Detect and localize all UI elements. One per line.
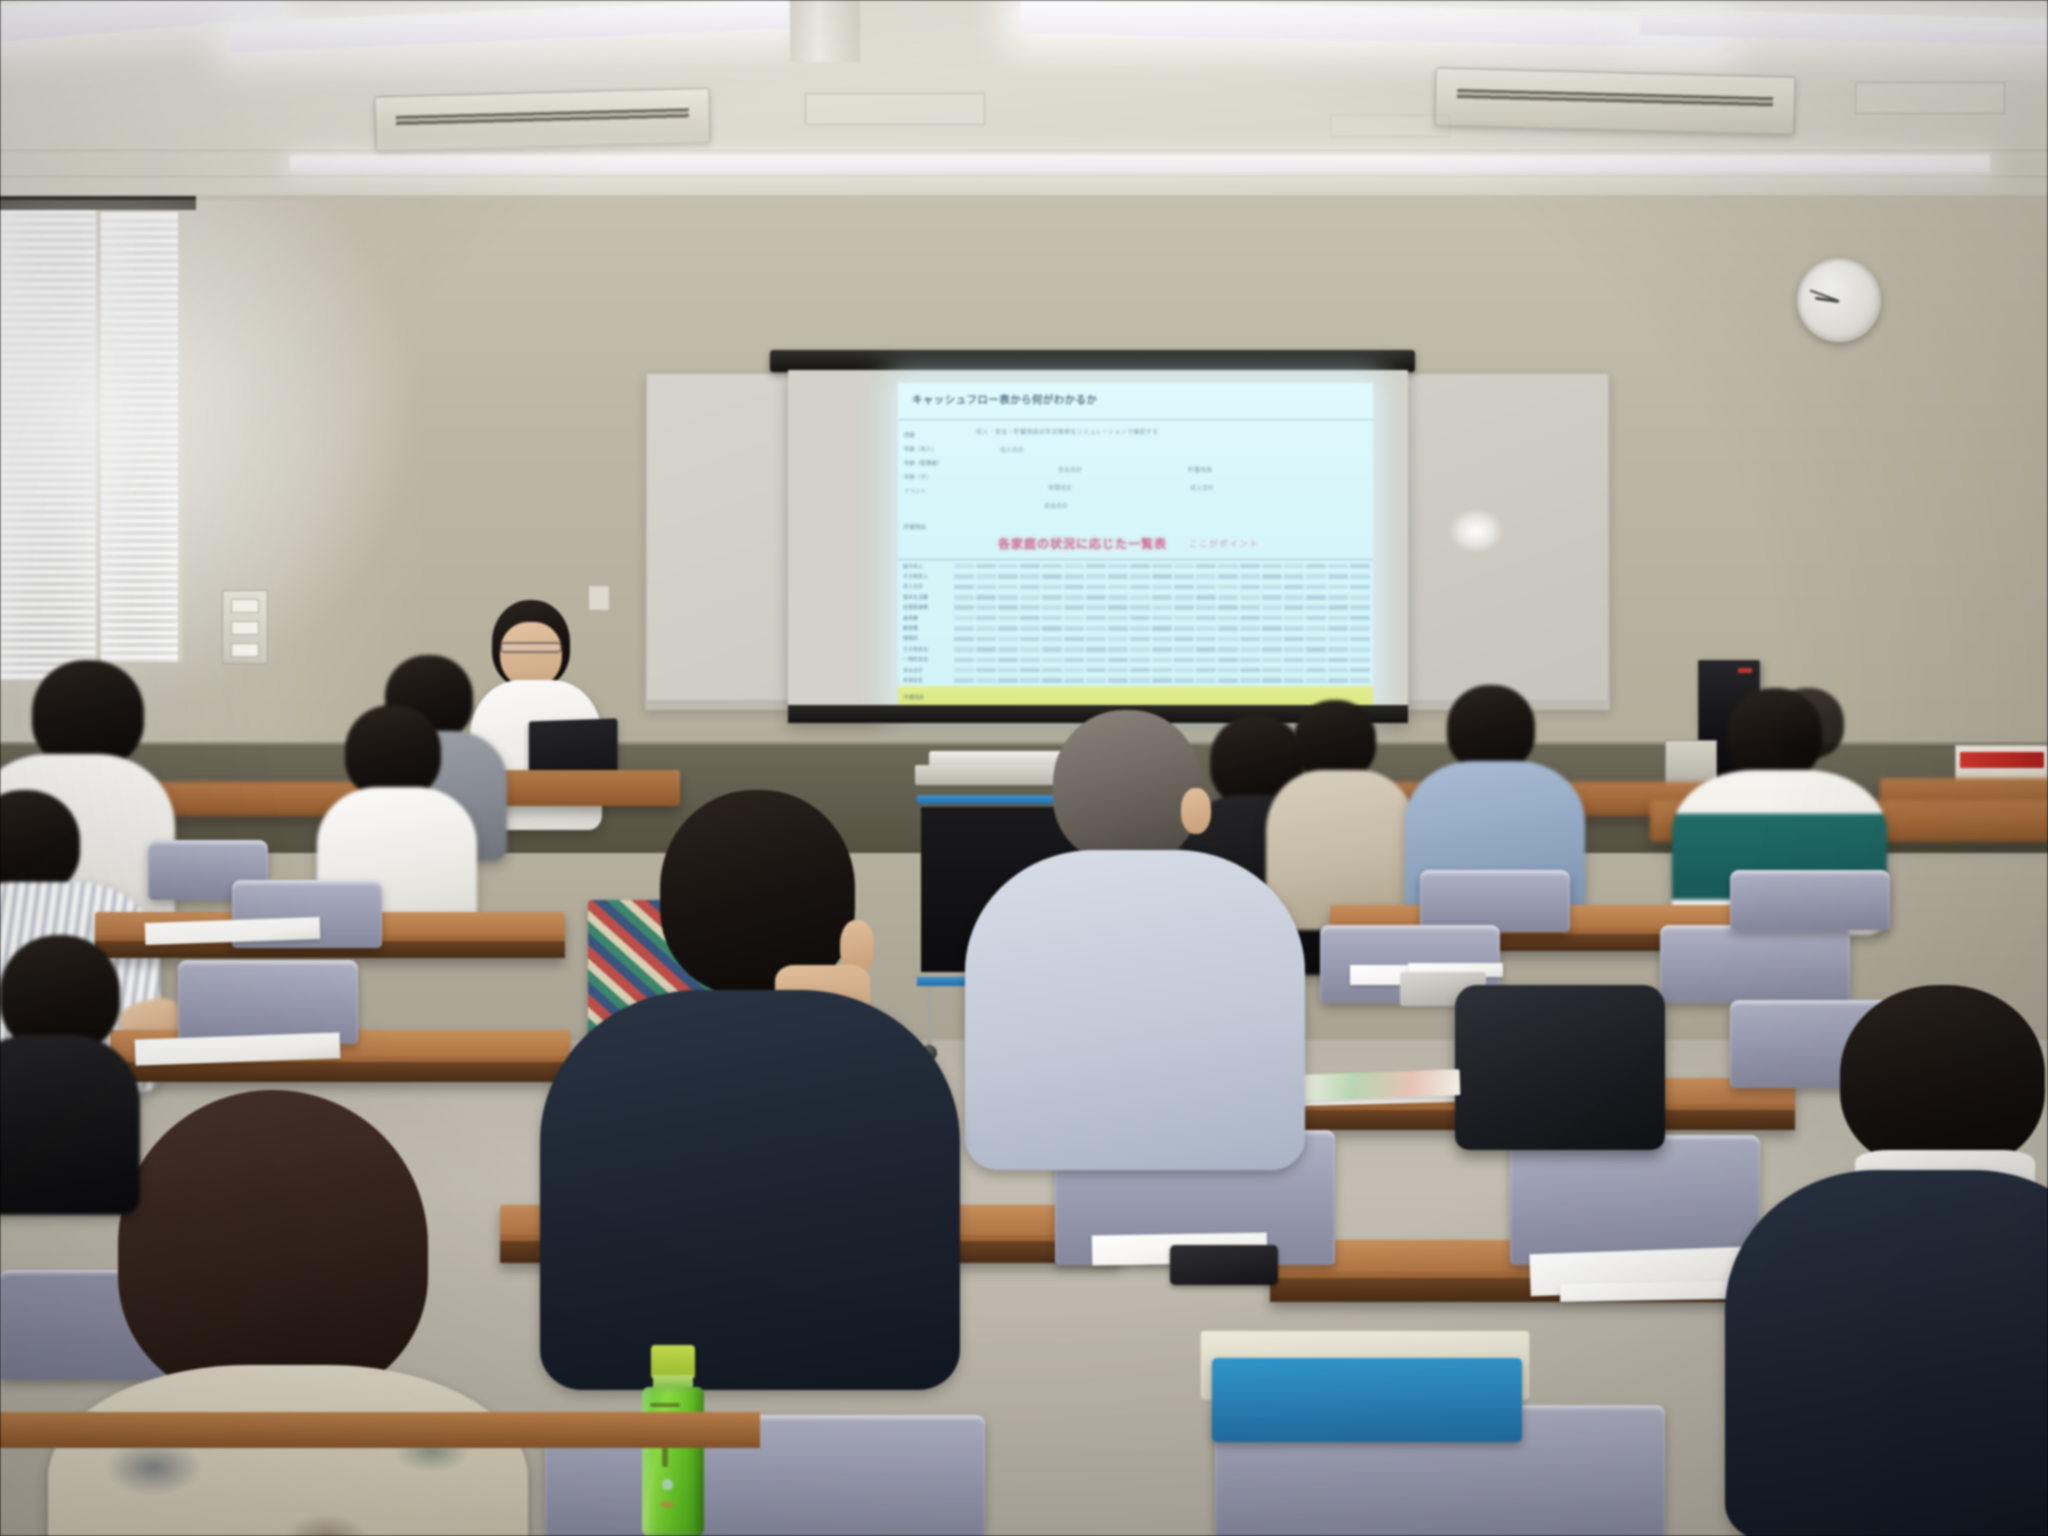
- slide-table-cell: [1042, 595, 1062, 600]
- slide-table-row: 一時的支出: [898, 655, 1373, 665]
- slide-table-cell: [1064, 605, 1084, 610]
- slide-table-cell: [1284, 678, 1304, 683]
- slide-table-cell: [1130, 658, 1150, 663]
- slide-table-cell: [976, 626, 996, 631]
- slide-table-cell: [998, 605, 1018, 610]
- slide-table-cell: [1328, 585, 1348, 590]
- slide-table-cells: [954, 658, 1373, 663]
- presenter-face: [500, 622, 562, 688]
- wall-switch[interactable]: [231, 599, 259, 613]
- av-cart-leg: [927, 987, 932, 1052]
- slide-table-cell: [1152, 647, 1172, 652]
- slide-table-row: 保険料: [898, 634, 1373, 644]
- slide-table-cell: [1108, 616, 1128, 621]
- slide-table-cell: [1086, 564, 1106, 569]
- slide-table-cell: [976, 658, 996, 663]
- wall-outlet: [588, 585, 610, 611]
- slide-table-cell: [1086, 658, 1106, 663]
- slide-table-cell: [1130, 626, 1150, 631]
- slide-table-cell: [1064, 658, 1084, 663]
- slide-subhead: 収入・支出・貯蓄残高の年次推移をシミュレーションで確認する: [976, 427, 1365, 436]
- window-blinds: [0, 210, 96, 680]
- slide-table-cell: [976, 595, 996, 600]
- slide-table-cell: [1086, 616, 1106, 621]
- slide-table-cell: [1328, 626, 1348, 631]
- slide-table-cell: [1240, 678, 1260, 683]
- slide-table-cell: [1130, 668, 1150, 673]
- slide-table-cell: [1152, 605, 1172, 610]
- slide-table-cell: [1130, 564, 1150, 569]
- bottle-cap: [651, 1345, 695, 1378]
- slide-table-cell: [976, 668, 996, 673]
- slide-table-cell: [1086, 585, 1106, 590]
- slide-table-cell: [1174, 647, 1194, 652]
- attendee-ear: [1181, 788, 1211, 834]
- slide-table-cell: [954, 616, 974, 621]
- slide-table-cell: [1218, 637, 1238, 642]
- slide-table-cell: [1350, 605, 1370, 610]
- slide-row-label: イベント: [904, 487, 926, 495]
- slide-table-cell: [1130, 574, 1150, 579]
- slide-table-cell: [1108, 605, 1128, 610]
- slide-table-cell: [1328, 637, 1348, 642]
- slide-table-cell: [1174, 668, 1194, 673]
- slide-table-cell: [1328, 595, 1348, 600]
- slide-table-cell: [998, 626, 1018, 631]
- slide-table-cell: [1350, 678, 1370, 683]
- slide-table-cell: [1196, 668, 1216, 673]
- slide-table-cell: [1218, 626, 1238, 631]
- slide-table-cell: [1042, 626, 1062, 631]
- slide-table-cell: [1240, 647, 1260, 652]
- slide-table-cell: [1328, 605, 1348, 610]
- blue-tray: [1212, 1358, 1522, 1442]
- slide-table-cell: [1306, 585, 1326, 590]
- slide-table-cell: [1020, 564, 1040, 569]
- slide-table: 給与収入その他収入収入合計基本生活費住居関連費車両費教育費保険料その他支出一時的…: [898, 561, 1373, 686]
- slide-row-label: 西暦: [904, 431, 915, 439]
- slide-table-cell: [1196, 637, 1216, 642]
- slide-table-cell: [1262, 595, 1282, 600]
- slide-table-row-label: 支出合計: [898, 667, 954, 674]
- slide-table-cell: [954, 574, 974, 579]
- slide-table-row: 教育費: [898, 624, 1373, 634]
- slide-table-cell: [1240, 637, 1260, 642]
- slide-table-cell: [1064, 637, 1084, 642]
- slide-table-cell: [1328, 678, 1348, 683]
- slide-table-cell: [998, 595, 1018, 600]
- attendee-body: [540, 990, 960, 1390]
- chair[interactable]: [1660, 925, 1850, 1003]
- slide-table-cell: [1130, 605, 1150, 610]
- window-mullion: [178, 212, 183, 662]
- slide-table-cell: [1020, 605, 1040, 610]
- slide-table-cell: [1042, 616, 1062, 621]
- slide-table-cell: [1064, 595, 1084, 600]
- slide-table-cell: [1240, 616, 1260, 621]
- slide-table-row-label: 教育費: [898, 625, 954, 632]
- slide-table-cell: [954, 678, 974, 683]
- slide-table-cell: [1174, 626, 1194, 631]
- slide-table-cell: [1306, 574, 1326, 579]
- slide-highlight-text-row: 各家庭の状況に応じた一覧表 ここがポイント: [998, 535, 1347, 552]
- slide-table-cell: [1042, 585, 1062, 590]
- slide-table-cell: [1174, 585, 1194, 590]
- slide-table-cell: [976, 678, 996, 683]
- slide-table-cell: [1218, 678, 1238, 683]
- slide-table-cell: [1262, 574, 1282, 579]
- slide-table-cells: [954, 564, 1373, 569]
- slide-table-cell: [1020, 658, 1040, 663]
- slide-table-row-label: その他収入: [898, 573, 954, 580]
- wall-switch[interactable]: [231, 621, 259, 635]
- slide-table-cell: [1262, 678, 1282, 683]
- slide-table-cell: [1086, 595, 1106, 600]
- slide-table-cell: [1174, 564, 1194, 569]
- slide-table-cell: [954, 585, 974, 590]
- slide-table-cell: [1240, 626, 1260, 631]
- ceiling-tile-line: [0, 150, 2048, 151]
- slide-table-cell: [1306, 626, 1326, 631]
- slide-title: キャッシュフロー表から何がわかるか: [912, 392, 1363, 407]
- slide-table-row-label: 給与収入: [898, 563, 954, 570]
- slide-table-cell: [1108, 595, 1128, 600]
- ceiling: [0, 0, 2048, 205]
- bottle-label-mark: [650, 1403, 680, 1407]
- slide-table-cell: [1086, 678, 1106, 683]
- wall-clock: [1797, 258, 1881, 342]
- slide-table-cell: [1240, 574, 1260, 579]
- slide-table-cell: [1108, 678, 1128, 683]
- slide-table-cell: [1042, 668, 1062, 673]
- slide-table-cell: [1262, 605, 1282, 610]
- slide-table-cell: [1108, 574, 1128, 579]
- slide-table-cell: [1020, 647, 1040, 652]
- projection-screen-housing: [770, 350, 1415, 372]
- slide-table-cell: [1152, 668, 1172, 673]
- ac-vent: [374, 88, 710, 152]
- slide-table-cell: [1262, 616, 1282, 621]
- chair[interactable]: [1420, 870, 1570, 932]
- slide-table-cell: [1262, 564, 1282, 569]
- slide-table-cell: [1218, 605, 1238, 610]
- slide-table-cell: [954, 605, 974, 610]
- presenter-glasses: [500, 642, 562, 653]
- slide-table-cell: [1350, 574, 1370, 579]
- slide-table-cell: [1108, 658, 1128, 663]
- slide-table-row-label: 一時的支出: [898, 656, 954, 663]
- slide-table-cell: [1306, 658, 1326, 663]
- slide-table-cell: [1152, 564, 1172, 569]
- slide-table-cell: [1174, 678, 1194, 683]
- slide-table-cell: [1218, 595, 1238, 600]
- slide-table-cell: [1350, 668, 1370, 673]
- window-frame: [0, 196, 196, 210]
- slide-table-cell: [1020, 574, 1040, 579]
- slide-table-cell: [1196, 574, 1216, 579]
- slide-table-cell: [1218, 585, 1238, 590]
- slide-table-cell: [1152, 626, 1172, 631]
- slide-table-cell: [1174, 616, 1194, 621]
- slide-table-cell: [998, 616, 1018, 621]
- slide-table-cell: [1042, 658, 1062, 663]
- slide-row-label: 年齢（配偶者）: [904, 459, 943, 467]
- slide-table-cell: [954, 564, 974, 569]
- slide-table-cell: [1130, 595, 1150, 600]
- slide-table-cell: [1218, 574, 1238, 579]
- wall-control-plate[interactable]: [222, 590, 268, 664]
- smartphone[interactable]: [1170, 1245, 1278, 1285]
- slide-table-cell: [1350, 637, 1370, 642]
- slide-table-row-label: 収入合計: [898, 583, 954, 590]
- slide-table-cell: [1218, 658, 1238, 663]
- slide-table-cell: [998, 585, 1018, 590]
- attendee-body: [1725, 1170, 2048, 1536]
- slide-table-cell: [1064, 647, 1084, 652]
- slide-table-cell: [1240, 658, 1260, 663]
- slide-table-row-label: 年間収支: [898, 677, 954, 684]
- slide-table-cell: [1108, 585, 1128, 590]
- slide-table-cell: [1086, 668, 1106, 673]
- slide-table-cell: [1152, 678, 1172, 683]
- slide-table-cell: [1284, 564, 1304, 569]
- slide-table-cell: [998, 564, 1018, 569]
- slide-table-row: 給与収入: [898, 561, 1373, 571]
- slide-table-cell: [1284, 626, 1304, 631]
- window-blinds: [100, 212, 178, 662]
- slide-table-cell: [954, 637, 974, 642]
- slide-table-cell: [998, 658, 1018, 663]
- slide-table-cell: [1174, 595, 1194, 600]
- slide-table-cell: [954, 626, 974, 631]
- slide-table-cell: [1240, 585, 1260, 590]
- slide-table-cell: [1196, 585, 1216, 590]
- slide-table-cell: [1064, 678, 1084, 683]
- slide-table-cells: [954, 678, 1373, 683]
- ceiling-access-panel: [1855, 82, 2005, 114]
- fluorescent-light-strip: [230, 0, 791, 52]
- red-label: [1960, 752, 2044, 768]
- slide-red-text-secondary: ここがポイント: [1189, 537, 1259, 550]
- slide-table-cell: [998, 678, 1018, 683]
- slide-row-label: 貯蓄残高: [904, 523, 926, 531]
- attendee-head: [118, 1090, 428, 1400]
- chair[interactable]: [1730, 870, 1890, 930]
- seminar-room-photo: キャッシュフロー表から何がわかるか 収入・支出・貯蓄残高の年次推移をシミュレーシ…: [0, 0, 2048, 1536]
- slide-table-cell: [1240, 605, 1260, 610]
- slide-table-cell: [1086, 626, 1106, 631]
- whiteboard-glare: [1450, 510, 1502, 552]
- slide-table-row: その他収入: [898, 571, 1373, 581]
- slide-table-cell: [1284, 658, 1304, 663]
- slide-note: 年間収支: [1048, 483, 1072, 492]
- slide-table-row-label: 車両費: [898, 615, 954, 622]
- slide-table-cells: [954, 585, 1373, 590]
- slide-table-cell: [1196, 626, 1216, 631]
- slide-note: 支出合計: [1058, 465, 1082, 474]
- ac-vent: [1434, 67, 1795, 134]
- slide-table-cell: [1262, 626, 1282, 631]
- attendee-body: [0, 1035, 140, 1215]
- attendee-head: [1447, 685, 1535, 771]
- slide-table-cell: [1350, 564, 1370, 569]
- slide-table-cell: [1064, 668, 1084, 673]
- attendee-head: [1772, 688, 1844, 758]
- slide-table-cell: [954, 595, 974, 600]
- slide-table-cells: [954, 595, 1373, 600]
- slide-table-cell: [1108, 668, 1128, 673]
- slide-table-cell: [1328, 564, 1348, 569]
- slide-table-cell: [1306, 564, 1326, 569]
- slide-table-row-label: その他支出: [898, 646, 954, 653]
- slide-table-cell: [1284, 616, 1304, 621]
- slide-table-cell: [1108, 564, 1128, 569]
- slide-table-cells: [954, 626, 1373, 631]
- slide-table-row: 支出合計: [898, 665, 1373, 675]
- slide-table-cells: [954, 574, 1373, 579]
- slide-table-cell: [1218, 616, 1238, 621]
- slide-table-cell: [1174, 637, 1194, 642]
- slide-table-cell: [1306, 647, 1326, 652]
- slide-table-cell: [1306, 616, 1326, 621]
- slide-table-cell: [1174, 605, 1194, 610]
- slide-table-cell: [1262, 647, 1282, 652]
- slide-table-row: 車両費: [898, 613, 1373, 623]
- slide-table-cell: [1130, 585, 1150, 590]
- slide-highlight-label: 貯蓄残高: [898, 694, 956, 701]
- slide-table-cell: [1350, 585, 1370, 590]
- slide-table-cell: [998, 647, 1018, 652]
- slide-table-cell: [1262, 585, 1282, 590]
- slide-table-cell: [1152, 574, 1172, 579]
- chair[interactable]: [178, 960, 358, 1044]
- ceiling-beam: [790, 0, 860, 62]
- slide-table-cell: [1262, 668, 1282, 673]
- slide-table-cell: [1042, 564, 1062, 569]
- slide-table-cell: [1130, 647, 1150, 652]
- slide-table-cell: [1064, 564, 1084, 569]
- slide-table-cell: [976, 637, 996, 642]
- attendee-head: [1294, 700, 1376, 780]
- bottle-label-mark: [662, 1479, 673, 1490]
- slide-table-cell: [1020, 668, 1040, 673]
- slide-table-cell: [1042, 637, 1062, 642]
- slide-table-cell: [1284, 647, 1304, 652]
- slide-table-cell: [1174, 574, 1194, 579]
- fluorescent-light-strip: [1020, 0, 1721, 47]
- ceiling-tile-line: [0, 176, 2048, 177]
- slide-table-cell: [1306, 595, 1326, 600]
- fluorescent-light-strip: [290, 155, 1990, 172]
- slide-table-cell: [1350, 595, 1370, 600]
- slide-table-cell: [1152, 637, 1172, 642]
- slide-note: 支出合計: [1044, 501, 1068, 510]
- slide-table-cell: [1130, 616, 1150, 621]
- slide-table-row-label: 保険料: [898, 635, 954, 642]
- slide-table-cell: [1042, 605, 1062, 610]
- slide-table-cell: [1350, 647, 1370, 652]
- slide-table-cell: [954, 658, 974, 663]
- slide-table-cell: [1064, 626, 1084, 631]
- slide-table-cell: [976, 574, 996, 579]
- slide-table-cell: [1218, 668, 1238, 673]
- slide-table-cell: [998, 574, 1018, 579]
- attendee-body: [48, 1365, 528, 1536]
- slide-table-cell: [1152, 585, 1172, 590]
- attendee-head: [345, 705, 441, 799]
- slide-table-cell: [1350, 658, 1370, 663]
- slide-table-cell: [976, 616, 996, 621]
- slide-table-cell: [1152, 616, 1172, 621]
- slide-table-cell: [1196, 564, 1216, 569]
- slide-divider: [898, 419, 1373, 420]
- slide-table-cell: [976, 564, 996, 569]
- slide-table-row-label: 住居関連費: [898, 604, 954, 611]
- slide-table-cell: [1196, 616, 1216, 621]
- slide-table-cell: [1130, 678, 1150, 683]
- slide-note: 貯蓄残高: [1188, 465, 1212, 474]
- bottle-label-mark: [660, 1501, 674, 1508]
- slide-red-text: 各家庭の状況に応じた一覧表: [998, 535, 1167, 552]
- slide-table-cell: [1042, 647, 1062, 652]
- slide-table-cell: [1020, 595, 1040, 600]
- slide-table-cell: [1240, 564, 1260, 569]
- slide-table-cell: [1152, 595, 1172, 600]
- speaker-power-led: [1738, 668, 1752, 673]
- slide-table-cells: [954, 605, 1373, 610]
- slide-table-cell: [1042, 678, 1062, 683]
- slide-table-cell: [1020, 637, 1040, 642]
- slide-table-cell: [1284, 637, 1304, 642]
- slide-table-cell: [1020, 616, 1040, 621]
- slide-table-cell: [1328, 668, 1348, 673]
- wall-switch[interactable]: [231, 643, 259, 657]
- slide-table-cell: [1284, 574, 1304, 579]
- slide-table-cell: [1064, 585, 1084, 590]
- slide-table-cell: [1064, 616, 1084, 621]
- slide-table-cell: [1086, 605, 1106, 610]
- slide-table-cell: [1328, 616, 1348, 621]
- slide-table-cell: [1196, 605, 1216, 610]
- slide-table-cell: [1020, 585, 1040, 590]
- slide-table-cell: [1218, 647, 1238, 652]
- chair[interactable]: [1510, 1135, 1760, 1265]
- slide-table-cell: [1306, 668, 1326, 673]
- slide-table-cell: [1350, 616, 1370, 621]
- slide-row-label: 年齢（子）: [904, 473, 932, 481]
- slide-table-cell: [1042, 574, 1062, 579]
- slide-table-cells: [954, 668, 1373, 673]
- slide-table-cell: [976, 647, 996, 652]
- slide-table-cell: [976, 605, 996, 610]
- slide-table-cell: [998, 637, 1018, 642]
- slide-table-cell: [1284, 595, 1304, 600]
- ceiling-access-panel: [1330, 115, 1450, 137]
- bottle-body: [642, 1387, 704, 1536]
- desk-foreground-left: [0, 1412, 760, 1448]
- attendee-body: [965, 850, 1305, 1170]
- slide-table-cell: [1174, 658, 1194, 663]
- slide-table-cells: [954, 647, 1373, 652]
- slide-divider: [898, 559, 1373, 560]
- slide-table-cell: [1306, 678, 1326, 683]
- attendee-head: [1840, 985, 2045, 1170]
- slide-table-cell: [976, 585, 996, 590]
- slide-table-cell: [1020, 678, 1040, 683]
- slide-table-cell: [1262, 658, 1282, 663]
- slide-table-cell: [1130, 637, 1150, 642]
- slide-table-cells: [954, 616, 1373, 621]
